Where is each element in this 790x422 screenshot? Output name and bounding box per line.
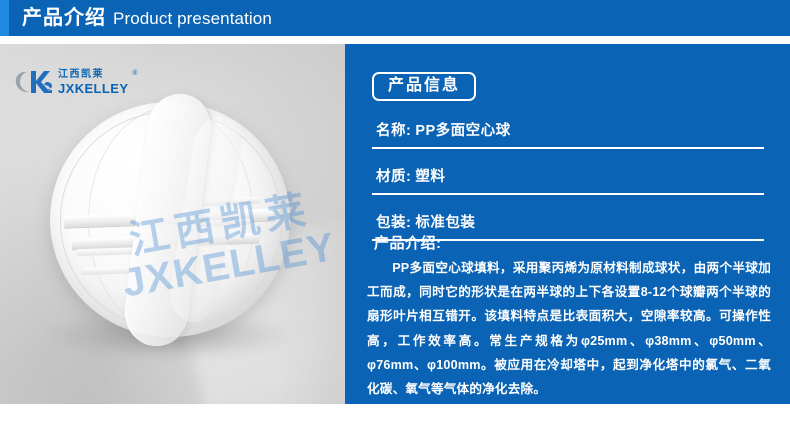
spec-row-name: 名称: PP多面空心球 [372, 116, 764, 149]
spec-value-name: PP多面空心球 [415, 123, 510, 139]
product-info-panel: 产品信息 名称: PP多面空心球 材质: 塑料 包装: 标准包装 产品介绍: P… [345, 44, 790, 404]
intro-heading: 产品介绍: [374, 232, 442, 253]
brand-name-cn: 江西凯莱 [58, 70, 128, 80]
brand-logo: 江西凯莱 JXKELLEY ® [14, 68, 138, 96]
product-photo: 江西凯莱 JXKELLEY ® 江西凯莱 JXKELLEY ® [0, 44, 345, 404]
registered-mark-icon: ® [132, 70, 137, 77]
content-area: 江西凯莱 JXKELLEY ® 江西凯莱 JXKELLEY ® 产品信息 名称:… [0, 44, 790, 404]
spec-value-material: 塑料 [415, 169, 445, 185]
brand-name-en: JXKELLEY [58, 82, 128, 95]
panel-badge-title: 产品信息 [372, 72, 476, 101]
page-header: 产品介绍 Product presentation [0, 0, 790, 36]
spec-row-material: 材质: 塑料 [372, 162, 764, 195]
k2-logo-icon [14, 68, 54, 96]
spec-value-packaging: 标准包装 [415, 215, 475, 231]
page-title-en: Product presentation [113, 10, 272, 27]
page-title-cn: 产品介绍 [22, 8, 106, 28]
product-presentation-page: 产品介绍 Product presentation [0, 0, 790, 422]
hollow-ball-product [50, 102, 290, 337]
spec-label-packaging: 包装: [376, 215, 411, 231]
brand-logo-text: 江西凯莱 JXKELLEY [58, 70, 128, 95]
spec-label-material: 材质: [376, 169, 411, 185]
header-title-group: 产品介绍 Product presentation [22, 8, 272, 28]
intro-paragraph: PP多面空心球填料，采用聚丙烯为原材料制成球状，由两个半球加工而成，同时它的形状… [367, 256, 771, 401]
spec-label-name: 名称: [376, 123, 411, 139]
header-accent-bar [0, 0, 9, 36]
